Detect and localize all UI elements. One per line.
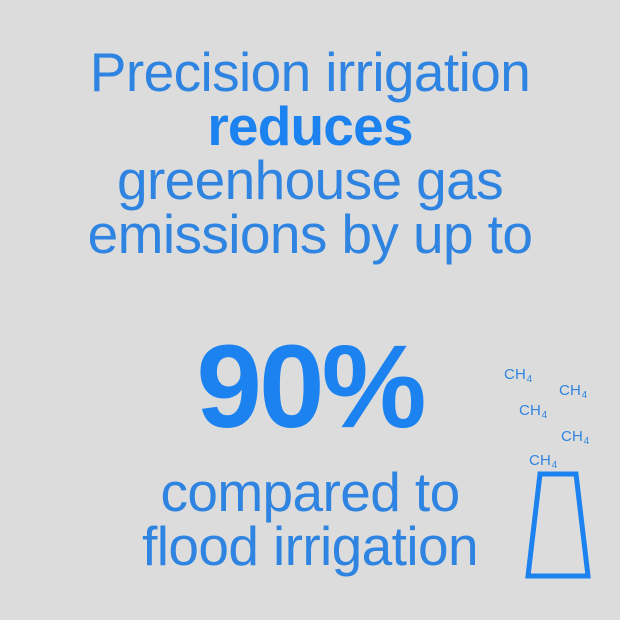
stat-value: 90% xyxy=(196,328,423,446)
methane-formula: CH xyxy=(504,366,526,383)
methane-label-4: CH4 xyxy=(561,428,589,445)
headline-line-4: emissions by up to xyxy=(0,208,620,262)
headline-block: Precision irrigation reduces greenhouse … xyxy=(0,46,620,262)
headline-line-3: greenhouse gas xyxy=(0,154,620,208)
methane-subscript: 4 xyxy=(584,436,590,447)
methane-label-2: CH4 xyxy=(559,382,587,399)
methane-subscript: 4 xyxy=(527,374,533,385)
methane-label-3: CH4 xyxy=(519,402,547,419)
methane-subscript: 4 xyxy=(582,390,588,401)
methane-label-1: CH4 xyxy=(504,366,532,383)
headline-line-2-emphasis: reduces xyxy=(0,100,620,154)
headline-line-1: Precision irrigation xyxy=(0,46,620,100)
emission-graphic: CH4 CH4 CH4 CH4 CH4 xyxy=(494,356,614,586)
methane-formula: CH xyxy=(519,402,541,419)
methane-label-5: CH4 xyxy=(529,452,557,469)
methane-subscript: 4 xyxy=(542,410,548,421)
infographic-canvas: Precision irrigation reduces greenhouse … xyxy=(0,0,620,620)
methane-formula: CH xyxy=(561,428,583,445)
methane-formula: CH xyxy=(559,382,581,399)
smokestack-outline xyxy=(528,474,588,576)
smokestack-icon xyxy=(520,470,596,582)
methane-formula: CH xyxy=(529,452,551,469)
